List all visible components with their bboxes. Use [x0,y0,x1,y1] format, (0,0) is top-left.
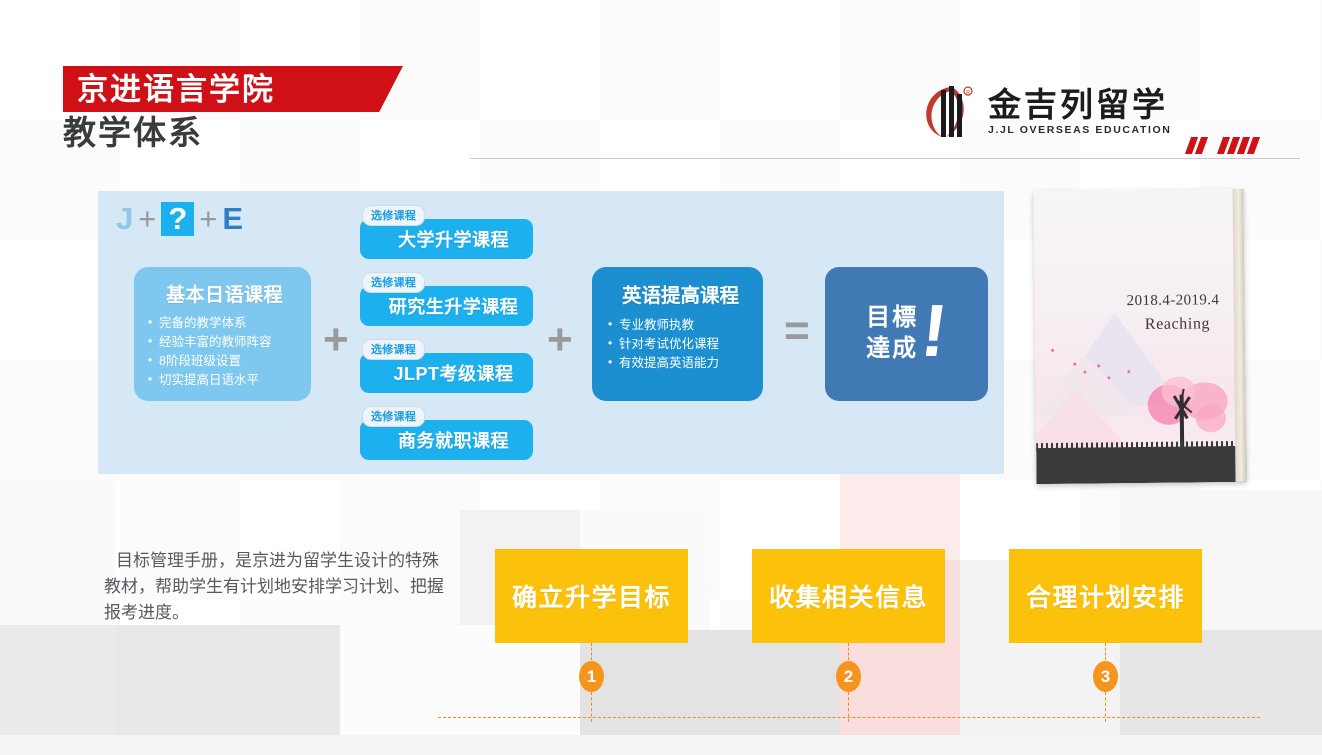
elective-card: 选修课程 商务就职课程 [360,406,533,448]
elective-course-stack: 选修课程 大学升学课程 选修课程 研究生升学课程 选修课程 JLPT考级课程 选… [360,205,533,448]
base-course-bullet-list: 完备的教学体系 经验丰富的教师阵容 8阶段班级设置 切实提高日语水平 [148,314,301,390]
background-block [0,480,115,625]
list-item: 针对考试优化课程 [608,335,753,354]
list-item: 经验丰富的教师阵容 [148,333,301,352]
background-block [1120,630,1322,755]
list-item: 8阶段班级设置 [148,352,301,371]
formula-e: E [222,201,243,237]
logo-chinese-name: 金吉列留学 [988,88,1171,123]
book-cover-title: 2018.4-2019.4 [1127,292,1220,310]
step-number-badge: 2 [836,661,861,692]
elective-tag: 选修课程 [362,339,425,360]
petal-dot [1107,376,1110,379]
base-course-title: 基本日语课程 [148,280,301,307]
english-course-bullet-list: 专业教师执教 针对考试优化课程 有效提高英语能力 [608,316,753,373]
timeline-dashed-axis [438,717,1260,718]
elective-label: 研究生升学课程 [375,293,519,319]
step-card[interactable]: 确立升学目标 [495,549,688,643]
page-title: 教学体系 [63,114,203,152]
step-number-badge: 1 [579,661,604,692]
formula-plus-1: + [138,201,156,237]
handbook-description: 目标管理手册，是京进为留学生设计的特殊教材，帮助学生有计划地安排学习计划、把握报… [104,548,444,625]
header-red-banner: 京进语言学院 [63,66,403,112]
elective-label: 大学升学课程 [384,226,509,252]
slide-header: 京进语言学院 教学体系 R 金吉列留学 J.JL OVERSEAS EDUCAT… [0,0,1322,175]
list-item: 有效提高英语能力 [608,354,753,373]
elective-tag: 选修课程 [362,205,425,226]
step-label: 合理计划安排 [1026,578,1185,614]
book-cover-subtitle: Reaching [1145,315,1210,334]
petal-dot [1073,363,1076,366]
slide-canvas: 京进语言学院 教学体系 R 金吉列留学 J.JL OVERSEAS EDUCAT… [0,0,1322,755]
step-group: 确立升学目标 1 [495,549,688,643]
step-group: 合理计划安排 3 [1009,549,1202,643]
petal-dot [1083,371,1086,374]
book-spine [1232,189,1246,482]
background-block [0,735,1322,755]
blossom-cluster [1196,404,1226,432]
background-block [115,625,340,755]
petal-dot [1051,349,1054,352]
background-block [0,625,115,755]
elective-card: 选修课程 研究生升学课程 [360,272,533,314]
list-item: 切实提高日语水平 [148,371,301,390]
background-block [580,630,840,755]
mountain-shape [1033,389,1128,448]
elective-card: 选修课程 大学升学课程 [360,205,533,247]
header-divider [470,158,1300,159]
curriculum-diagram-panel: J + ? + E 基本日语课程 完备的教学体系 经验丰富的教师阵容 8阶段班级… [98,191,1004,474]
goal-text: 目標 達成 [866,303,918,364]
step-card[interactable]: 合理计划安排 [1009,549,1202,643]
elective-label: JLPT考级课程 [379,360,513,386]
list-item: 专业教师执教 [608,316,753,335]
petal-dot [1097,364,1100,367]
step-label: 收集相关信息 [769,578,928,614]
operator-plus-first: + [323,318,349,362]
step-label: 确立升学目标 [512,578,671,614]
petal-dot [1127,370,1130,373]
formula-plus-2: + [199,201,217,237]
elective-card: 选修课程 JLPT考级课程 [360,339,533,381]
ground-silhouette [1036,446,1246,484]
logo-english-name: J.JL OVERSEAS EDUCATION [988,124,1171,136]
elective-label: 商务就职课程 [384,427,509,453]
header-banner-title: 京进语言学院 [77,74,275,105]
exclamation-icon: ! [919,301,951,360]
goal-line-2: 達成 [866,334,918,365]
background-block [340,625,580,755]
goal-line-1: 目標 [866,303,918,334]
operator-plus-second: + [547,318,573,362]
formula-j: J [116,201,133,237]
jjl-logo-icon: R [916,82,978,142]
step-number-badge: 3 [1093,661,1118,692]
header-slash-decoration [1188,137,1257,154]
elective-tag: 选修课程 [362,406,425,427]
english-course-title: 英语提高课程 [608,279,753,308]
english-course-card: 英语提高课程 专业教师执教 针对考试优化课程 有效提高英语能力 [592,267,763,401]
brand-logo: R 金吉列留学 J.JL OVERSEAS EDUCATION [916,82,1171,142]
list-item: 完备的教学体系 [148,314,301,333]
step-card[interactable]: 收集相关信息 [752,549,945,643]
operator-equals: = [784,309,810,353]
formula-jqe: J + ? + E [116,201,243,237]
goal-achievement-card: 目標 達成 ! [825,267,988,401]
step-group: 收集相关信息 2 [752,549,945,643]
elective-tag: 选修课程 [362,272,425,293]
base-course-card: 基本日语课程 完备的教学体系 经验丰富的教师阵容 8阶段班级设置 切实提高日语水… [134,267,311,401]
formula-question: ? [161,202,194,237]
svg-text:R: R [966,90,970,96]
handbook-cover-photo: 2018.4-2019.4 Reaching [1033,189,1246,484]
tree-trunk [1180,395,1185,449]
